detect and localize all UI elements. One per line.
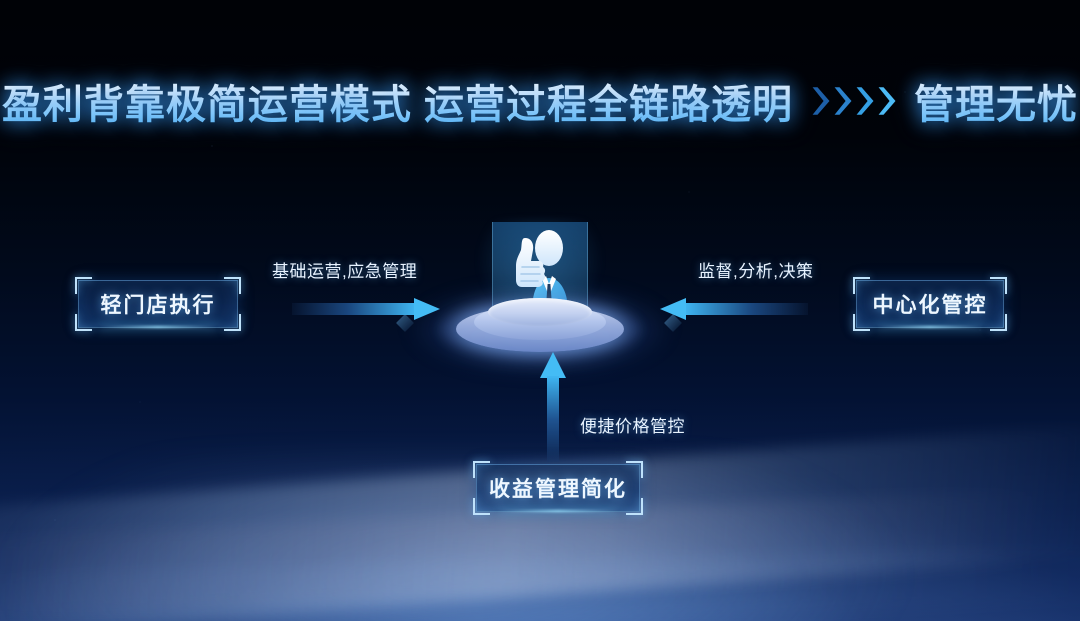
arrow-right-to-center	[660, 298, 808, 320]
title-main-text: 盈利背靠极简运营模式 运营过程全链路透明	[2, 72, 793, 130]
chevron-right-icon-2	[833, 86, 852, 116]
corner-bracket-bottom-left	[853, 314, 870, 331]
node-label: 收益管理简化	[489, 473, 627, 503]
arrow-shaft	[684, 303, 808, 315]
horizon-light-streak-3	[0, 544, 1080, 621]
node-label: 轻门店执行	[101, 289, 216, 319]
flow-caption-bottom: 便捷价格管控	[580, 412, 685, 437]
chevron-right-icon-3	[855, 86, 874, 116]
corner-bracket-bottom-right	[990, 314, 1007, 331]
title-tail-text: 管理无忧	[914, 72, 1078, 130]
arrow-head-right-icon	[414, 298, 440, 320]
node-underglow	[496, 510, 619, 512]
flow-caption-right: 监督,分析,决策	[698, 257, 813, 282]
arrow-left-to-center	[292, 298, 440, 320]
corner-bracket-top-right	[626, 461, 643, 478]
corner-bracket-top-left	[75, 277, 92, 294]
corner-bracket-top-right	[990, 277, 1007, 294]
chevron-right-icon-4	[877, 86, 896, 116]
node-underglow	[875, 326, 986, 328]
node-label: 中心化管控	[873, 289, 988, 319]
chevron-right-icon-1	[811, 86, 830, 116]
corner-bracket-bottom-left	[75, 314, 92, 331]
node-underglow	[98, 326, 218, 328]
corner-bracket-bottom-right	[224, 314, 241, 331]
corner-bracket-bottom-right	[626, 498, 643, 515]
arrow-shaft	[547, 376, 559, 462]
corner-bracket-top-left	[473, 461, 490, 478]
flow-caption-left: 基础运营,应急管理	[272, 257, 417, 282]
pedestal-top-plate	[488, 298, 592, 326]
node-box-revenue-management-simplified[interactable]: 收益管理简化	[476, 464, 640, 512]
corner-bracket-top-left	[853, 277, 870, 294]
arrow-head-left-icon	[660, 298, 686, 320]
arrow-shaft	[292, 303, 416, 315]
corner-bracket-bottom-left	[473, 498, 490, 515]
arrow-head-up-icon	[540, 352, 566, 378]
slide-title: 盈利背靠极简运营模式 运营过程全链路透明 管理无忧	[0, 72, 1080, 130]
center-hologram	[440, 222, 640, 352]
arrow-bottom-to-center	[540, 352, 566, 462]
node-box-light-store-execution[interactable]: 轻门店执行	[78, 280, 238, 328]
node-box-centralized-control[interactable]: 中心化管控	[856, 280, 1004, 328]
slide-canvas: 盈利背靠极简运营模式 运营过程全链路透明 管理无忧	[0, 0, 1080, 621]
chevron-group-icon	[811, 86, 896, 116]
corner-bracket-top-right	[224, 277, 241, 294]
